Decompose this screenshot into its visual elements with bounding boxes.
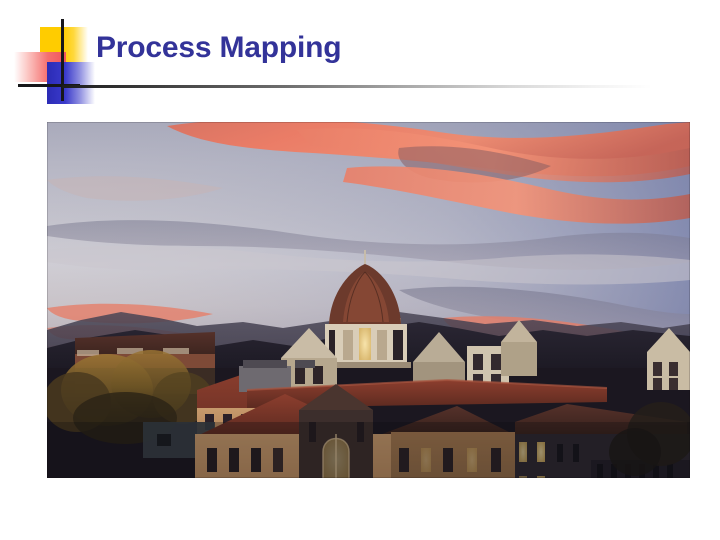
accent-square-blue (47, 62, 95, 104)
page-title: Process Mapping (96, 31, 341, 66)
photo-artwork (47, 122, 690, 478)
title-divider-rule (62, 85, 652, 88)
campus-sunset-photograph: University campus at dusk with sandstone… (47, 122, 690, 478)
accent-vertical-line (61, 19, 64, 101)
slide-canvas: Process Mapping University campus at dus… (0, 0, 720, 540)
